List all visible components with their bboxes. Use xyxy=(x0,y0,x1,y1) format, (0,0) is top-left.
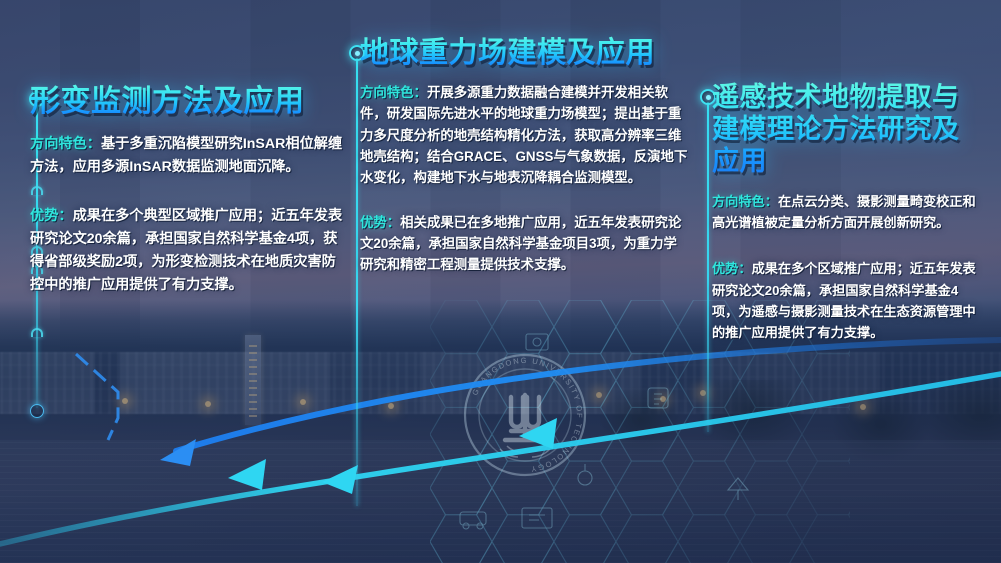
column-deformation-monitoring: 形变监测方法及应用 方向特色：基于多重沉陷模型研究InSAR相位解缠方法，应用多… xyxy=(30,84,348,297)
block-label: 优势： xyxy=(360,215,400,230)
spacer xyxy=(360,188,690,200)
block-paragraph: 优势：成果在多个典型区域推广应用；近五年发表研究论文20余篇，承担国家自然科学基… xyxy=(30,205,348,297)
timeline-rail-right xyxy=(707,102,709,432)
column-headline: 遥感技术地物提取与建模理论方法研究及应用 xyxy=(712,82,980,178)
block-text: 成果在多个典型区域推广应用；近五年发表研究论文20余篇，承担国家自然科学基金4项… xyxy=(30,208,342,293)
spacer xyxy=(712,233,980,245)
block-label: 方向特色： xyxy=(360,85,427,100)
slide-canvas: GUANGDONG UNIVERSITY OF TECHNOLOGY xyxy=(0,0,1001,563)
column-headline: 形变监测方法及应用 xyxy=(30,84,348,119)
block-label: 优势： xyxy=(712,261,752,276)
column-block: 方向特色：在点云分类、摄影测量畸变校正和高光谱植被定量分析方面开展创新研究。 xyxy=(712,191,980,234)
column-gravity-field-modeling: 地球重力场建模及应用 方向特色：开展多源重力数据融合建模并开发相关软件，研发国际… xyxy=(360,36,690,276)
block-paragraph: 优势：相关成果已在多地推广应用，近五年发表研究论文20余篇，承担国家自然科学基金… xyxy=(360,212,690,276)
column-block: 优势：相关成果已在多地推广应用，近五年发表研究论文20余篇，承担国家自然科学基金… xyxy=(360,212,690,276)
timeline-rail-middle xyxy=(356,58,358,506)
rail-jumper-icon xyxy=(31,328,43,337)
block-paragraph: 优势：成果在多个区域推广应用；近五年发表研究论文20余篇，承担国家自然科学基金4… xyxy=(712,258,980,344)
block-paragraph: 方向特色：在点云分类、摄影测量畸变校正和高光谱植被定量分析方面开展创新研究。 xyxy=(712,191,980,234)
column-block: 方向特色：开展多源重力数据融合建模并开发相关软件，研发国际先进水平的地球重力场模… xyxy=(360,82,690,188)
timeline-endnode-left[interactable] xyxy=(30,404,44,418)
block-label: 方向特色： xyxy=(30,136,101,152)
block-label: 方向特色： xyxy=(712,194,778,209)
column-block: 方向特色：基于多重沉陷模型研究InSAR相位解缠方法，应用多源InSAR数据监测… xyxy=(30,133,348,179)
column-remote-sensing-extraction: 遥感技术地物提取与建模理论方法研究及应用 方向特色：在点云分类、摄影测量畸变校正… xyxy=(712,82,980,344)
column-block: 优势：成果在多个区域推广应用；近五年发表研究论文20余篇，承担国家自然科学基金4… xyxy=(712,258,980,344)
block-paragraph: 方向特色：开展多源重力数据融合建模并开发相关软件，研发国际先进水平的地球重力场模… xyxy=(360,82,690,188)
column-headline: 地球重力场建模及应用 xyxy=(360,36,690,70)
column-block: 优势：成果在多个典型区域推广应用；近五年发表研究论文20余篇，承担国家自然科学基… xyxy=(30,205,348,297)
block-label: 优势： xyxy=(30,208,73,224)
spacer xyxy=(30,179,348,191)
block-text: 相关成果已在多地推广应用，近五年发表研究论文20余篇，承担国家自然科学基金项目3… xyxy=(360,215,681,272)
block-text: 成果在多个区域推广应用；近五年发表研究论文20余篇，承担国家自然科学基金4项，为… xyxy=(712,261,976,340)
block-paragraph: 方向特色：基于多重沉陷模型研究InSAR相位解缠方法，应用多源InSAR数据监测… xyxy=(30,133,348,179)
